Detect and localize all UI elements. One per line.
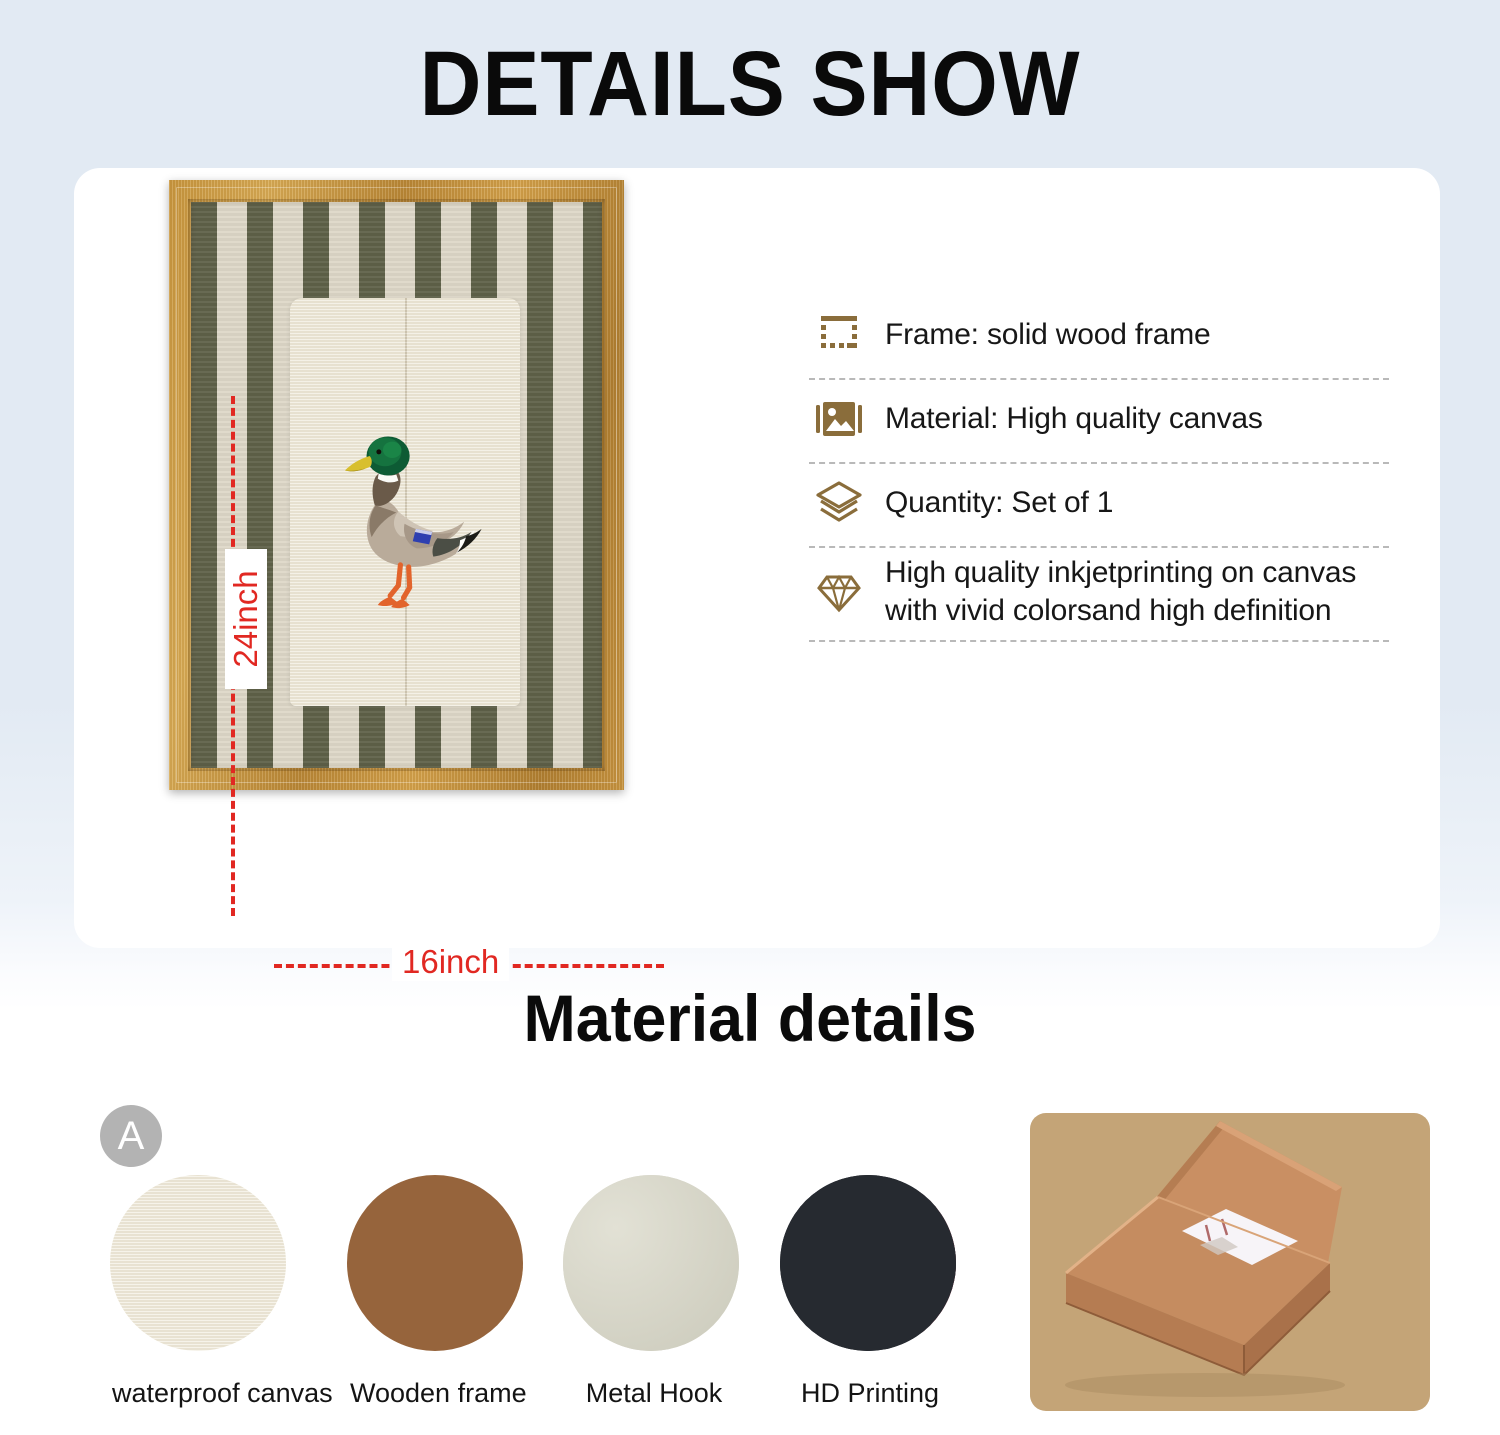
packaging-panel — [1030, 1113, 1430, 1411]
width-dimension-label: 16inch — [392, 943, 509, 981]
feature-label: High quality inkjetprinting on canvas wi… — [885, 554, 1356, 630]
feature-label: Material: High quality canvas — [885, 400, 1263, 438]
height-dimension-label: 24inch — [225, 549, 267, 689]
wooden-frame-thumb — [347, 1175, 523, 1351]
feature-item-printing: High quality inkjetprinting on canvas wi… — [809, 548, 1389, 642]
printer-bg — [780, 1175, 956, 1351]
group-badge-a: A — [100, 1105, 162, 1167]
feature-label: Frame: solid wood frame — [885, 316, 1211, 354]
page-title: DETAILS SHOW — [53, 32, 1448, 137]
image-icon — [809, 393, 869, 445]
thumbnail-caption: Wooden frame — [350, 1378, 526, 1409]
feature-list: Frame: solid wood frame Material: High q… — [809, 296, 1389, 642]
hd-printing-thumb — [780, 1175, 956, 1351]
brown-bg — [347, 1175, 523, 1351]
wood-frame — [169, 180, 624, 790]
feature-item-material: Material: High quality canvas — [809, 380, 1389, 464]
metal-hook-thumb — [563, 1175, 739, 1351]
thumbnail-caption: waterproof canvas — [112, 1378, 327, 1409]
thumbnail-caption: Metal Hook — [566, 1378, 742, 1409]
section-title: Material details — [38, 980, 1463, 1056]
thumbnail-caption: HD Printing — [782, 1378, 958, 1409]
frame-icon — [809, 309, 869, 361]
feature-label: Quantity: Set of 1 — [885, 484, 1113, 522]
surface-bg — [563, 1175, 739, 1351]
layers-icon — [809, 477, 869, 529]
cardboard-mailer-box — [1030, 1113, 1430, 1411]
waterproof-canvas-thumb — [110, 1175, 286, 1351]
feature-item-quantity: Quantity: Set of 1 — [809, 464, 1389, 548]
diamond-icon — [809, 566, 869, 618]
mallard-duck-illustration — [310, 372, 516, 655]
feature-item-frame: Frame: solid wood frame — [809, 296, 1389, 380]
details-card: 24inch 16inch Frame: solid wood fr — [74, 168, 1440, 948]
feature-label-line1: High quality inkjetprinting on canvas — [885, 556, 1356, 589]
framed-artwork — [169, 180, 624, 790]
canvas-texture-bg — [110, 1175, 286, 1351]
feature-label-line2: with vivid colorsand high definition — [885, 592, 1356, 630]
